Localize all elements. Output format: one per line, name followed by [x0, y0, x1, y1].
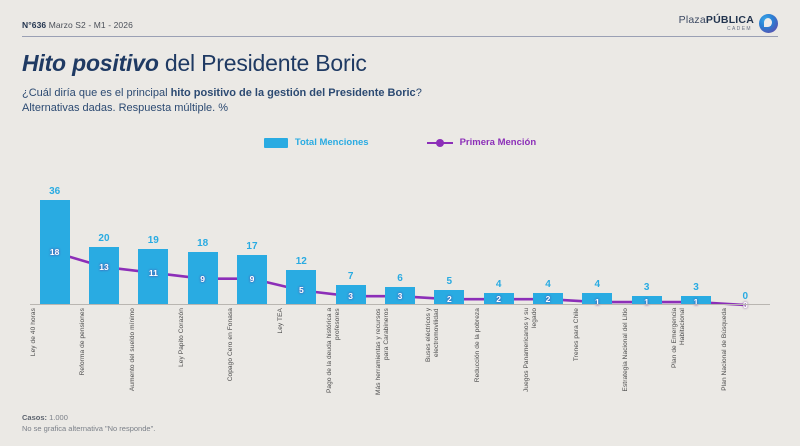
- line-swatch-icon: [427, 138, 453, 148]
- bar[interactable]: [89, 247, 119, 306]
- bar-value-label: 12: [296, 256, 307, 267]
- header: N°636 Marzo S2 - M1 - 2026 PlazaPÚBLICA …: [22, 18, 778, 40]
- legend-item-total-menciones[interactable]: Total Menciones: [264, 137, 369, 148]
- brand-logo-text: PlazaPÚBLICA CADEM: [679, 15, 754, 32]
- question-bold: hito positivo de la gestión del Presiden…: [171, 87, 416, 99]
- x-axis-line: [30, 304, 770, 305]
- brand-plaza: Plaza: [679, 14, 706, 26]
- brand-name: PlazaPÚBLICA: [679, 15, 754, 26]
- question-line-2: Alternativas dadas. Respuesta múltiple. …: [22, 101, 422, 116]
- line-value-label: 13: [99, 262, 108, 272]
- question-pre: ¿Cuál diría que es el principal: [22, 87, 171, 99]
- bar-column[interactable]: 17: [227, 170, 276, 305]
- line-value-label: 1: [595, 297, 600, 307]
- bar-value-label: 3: [693, 282, 699, 293]
- bar-value-label: 20: [98, 233, 109, 244]
- chart-plot-area: 362019181712765444330 181311995332221110: [30, 170, 770, 305]
- line-value-label: 2: [447, 294, 452, 304]
- line-value-label: 3: [348, 291, 353, 301]
- bar-column[interactable]: 5: [425, 170, 474, 305]
- x-axis-label: Estrategia Nacional del Litio: [622, 308, 671, 391]
- x-axis-label: Aumento del sueldo mínimo: [129, 308, 178, 391]
- bar-value-label: 4: [545, 279, 551, 290]
- slide-root: N°636 Marzo S2 - M1 - 2026 PlazaPÚBLICA …: [0, 0, 800, 446]
- x-axis-label: Pago de la deuda histórica a profesores: [326, 308, 375, 400]
- question-post: ?: [416, 87, 422, 99]
- bar-column[interactable]: 4: [474, 170, 523, 305]
- x-axis-label: Copago Cero en Fonasa: [227, 308, 276, 381]
- issue-detail: Marzo S2 - M1 - 2026: [49, 20, 133, 30]
- line-value-label: 3: [398, 291, 403, 301]
- bar-column[interactable]: 4: [523, 170, 572, 305]
- line-value-label: 2: [496, 294, 501, 304]
- bar-value-label: 5: [447, 276, 453, 287]
- bar-value-label: 4: [496, 279, 502, 290]
- line-value-label: 9: [250, 274, 255, 284]
- bar-value-label: 17: [246, 241, 257, 252]
- page-title-emphasis: Hito positivo: [22, 50, 159, 76]
- legend-label-primera-mencion: Primera Mención: [460, 137, 537, 148]
- bar-value-label: 6: [397, 273, 403, 284]
- legend-label-total-menciones: Total Menciones: [295, 137, 369, 148]
- x-axis-label: Reducción de la pobreza: [474, 308, 523, 382]
- brand-logo: PlazaPÚBLICA CADEM: [679, 14, 778, 33]
- brand-cadem: CADEM: [679, 27, 754, 32]
- x-axis-label: Plan de Emergencia Habitacional: [671, 308, 720, 400]
- line-value-label: 5: [299, 285, 304, 295]
- bar-column[interactable]: 36: [30, 170, 79, 305]
- bar-value-label: 18: [197, 238, 208, 249]
- line-value-label: 11: [149, 268, 158, 278]
- bar-column[interactable]: 18: [178, 170, 227, 305]
- line-value-label: 9: [200, 274, 205, 284]
- bar-column[interactable]: 20: [79, 170, 128, 305]
- legend-item-primera-mencion[interactable]: Primera Mención: [427, 137, 537, 148]
- chart-legend: Total Menciones Primera Mención: [0, 137, 800, 148]
- bar-column[interactable]: 6: [375, 170, 424, 305]
- bar-value-label: 7: [348, 271, 354, 282]
- bar-column[interactable]: 19: [129, 170, 178, 305]
- footer-casos: Casos: 1.000: [22, 412, 155, 423]
- bar-value-label: 19: [148, 235, 159, 246]
- casos-label: Casos:: [22, 413, 47, 422]
- question-text: ¿Cuál diría que es el principal hito pos…: [22, 86, 422, 116]
- question-line-1: ¿Cuál diría que es el principal hito pos…: [22, 86, 422, 101]
- header-divider: [22, 36, 778, 37]
- bar-column[interactable]: 3: [671, 170, 720, 305]
- line-value-label: 1: [644, 297, 649, 307]
- bar-swatch-icon: [264, 138, 288, 148]
- issue-number: N°636: [22, 20, 46, 30]
- line-value-label: 1: [694, 297, 699, 307]
- x-axis-label: Reforma de pensiones: [79, 308, 128, 375]
- x-axis-label: Más herramientas y recursos para Carabin…: [375, 308, 424, 400]
- footer-note: Casos: 1.000 No se grafica alternativa "…: [22, 412, 155, 434]
- x-axis-label: Buses eléctricos y electromovilidad: [425, 308, 474, 400]
- issue-line: N°636 Marzo S2 - M1 - 2026: [22, 20, 133, 30]
- bar-value-label: 3: [644, 282, 650, 293]
- bar-column[interactable]: 4: [573, 170, 622, 305]
- bar-column[interactable]: 0: [721, 170, 770, 305]
- x-axis-label: Juegos Panamericanos y su legado: [523, 308, 572, 400]
- page-title-rest: del Presidente Boric: [159, 50, 367, 76]
- brand-publica: PÚBLICA: [706, 14, 754, 26]
- bar-column[interactable]: 7: [326, 170, 375, 305]
- footer-disclaimer: No se grafica alternativa "No responde".: [22, 423, 155, 434]
- bar-value-label: 4: [595, 279, 601, 290]
- x-axis-label: Plan Nacional de Búsqueda: [721, 308, 770, 391]
- cadem-circle-icon: [759, 14, 778, 33]
- x-axis-label: Ley TEA: [277, 308, 326, 334]
- x-axis-label: Ley de 40 horas: [30, 308, 79, 356]
- line-value-label: 2: [546, 294, 551, 304]
- line-value-label: 18: [50, 247, 59, 257]
- x-axis-label: Trenes para Chile: [573, 308, 622, 361]
- bar-value-label: 36: [49, 186, 60, 197]
- bar-column[interactable]: 3: [622, 170, 671, 305]
- casos-value: 1.000: [47, 413, 68, 422]
- x-axis-labels: Ley de 40 horasReforma de pensionesAumen…: [30, 308, 770, 403]
- page-title: Hito positivo del Presidente Boric: [22, 50, 367, 77]
- x-axis-label: Ley Papito Corazón: [178, 308, 227, 367]
